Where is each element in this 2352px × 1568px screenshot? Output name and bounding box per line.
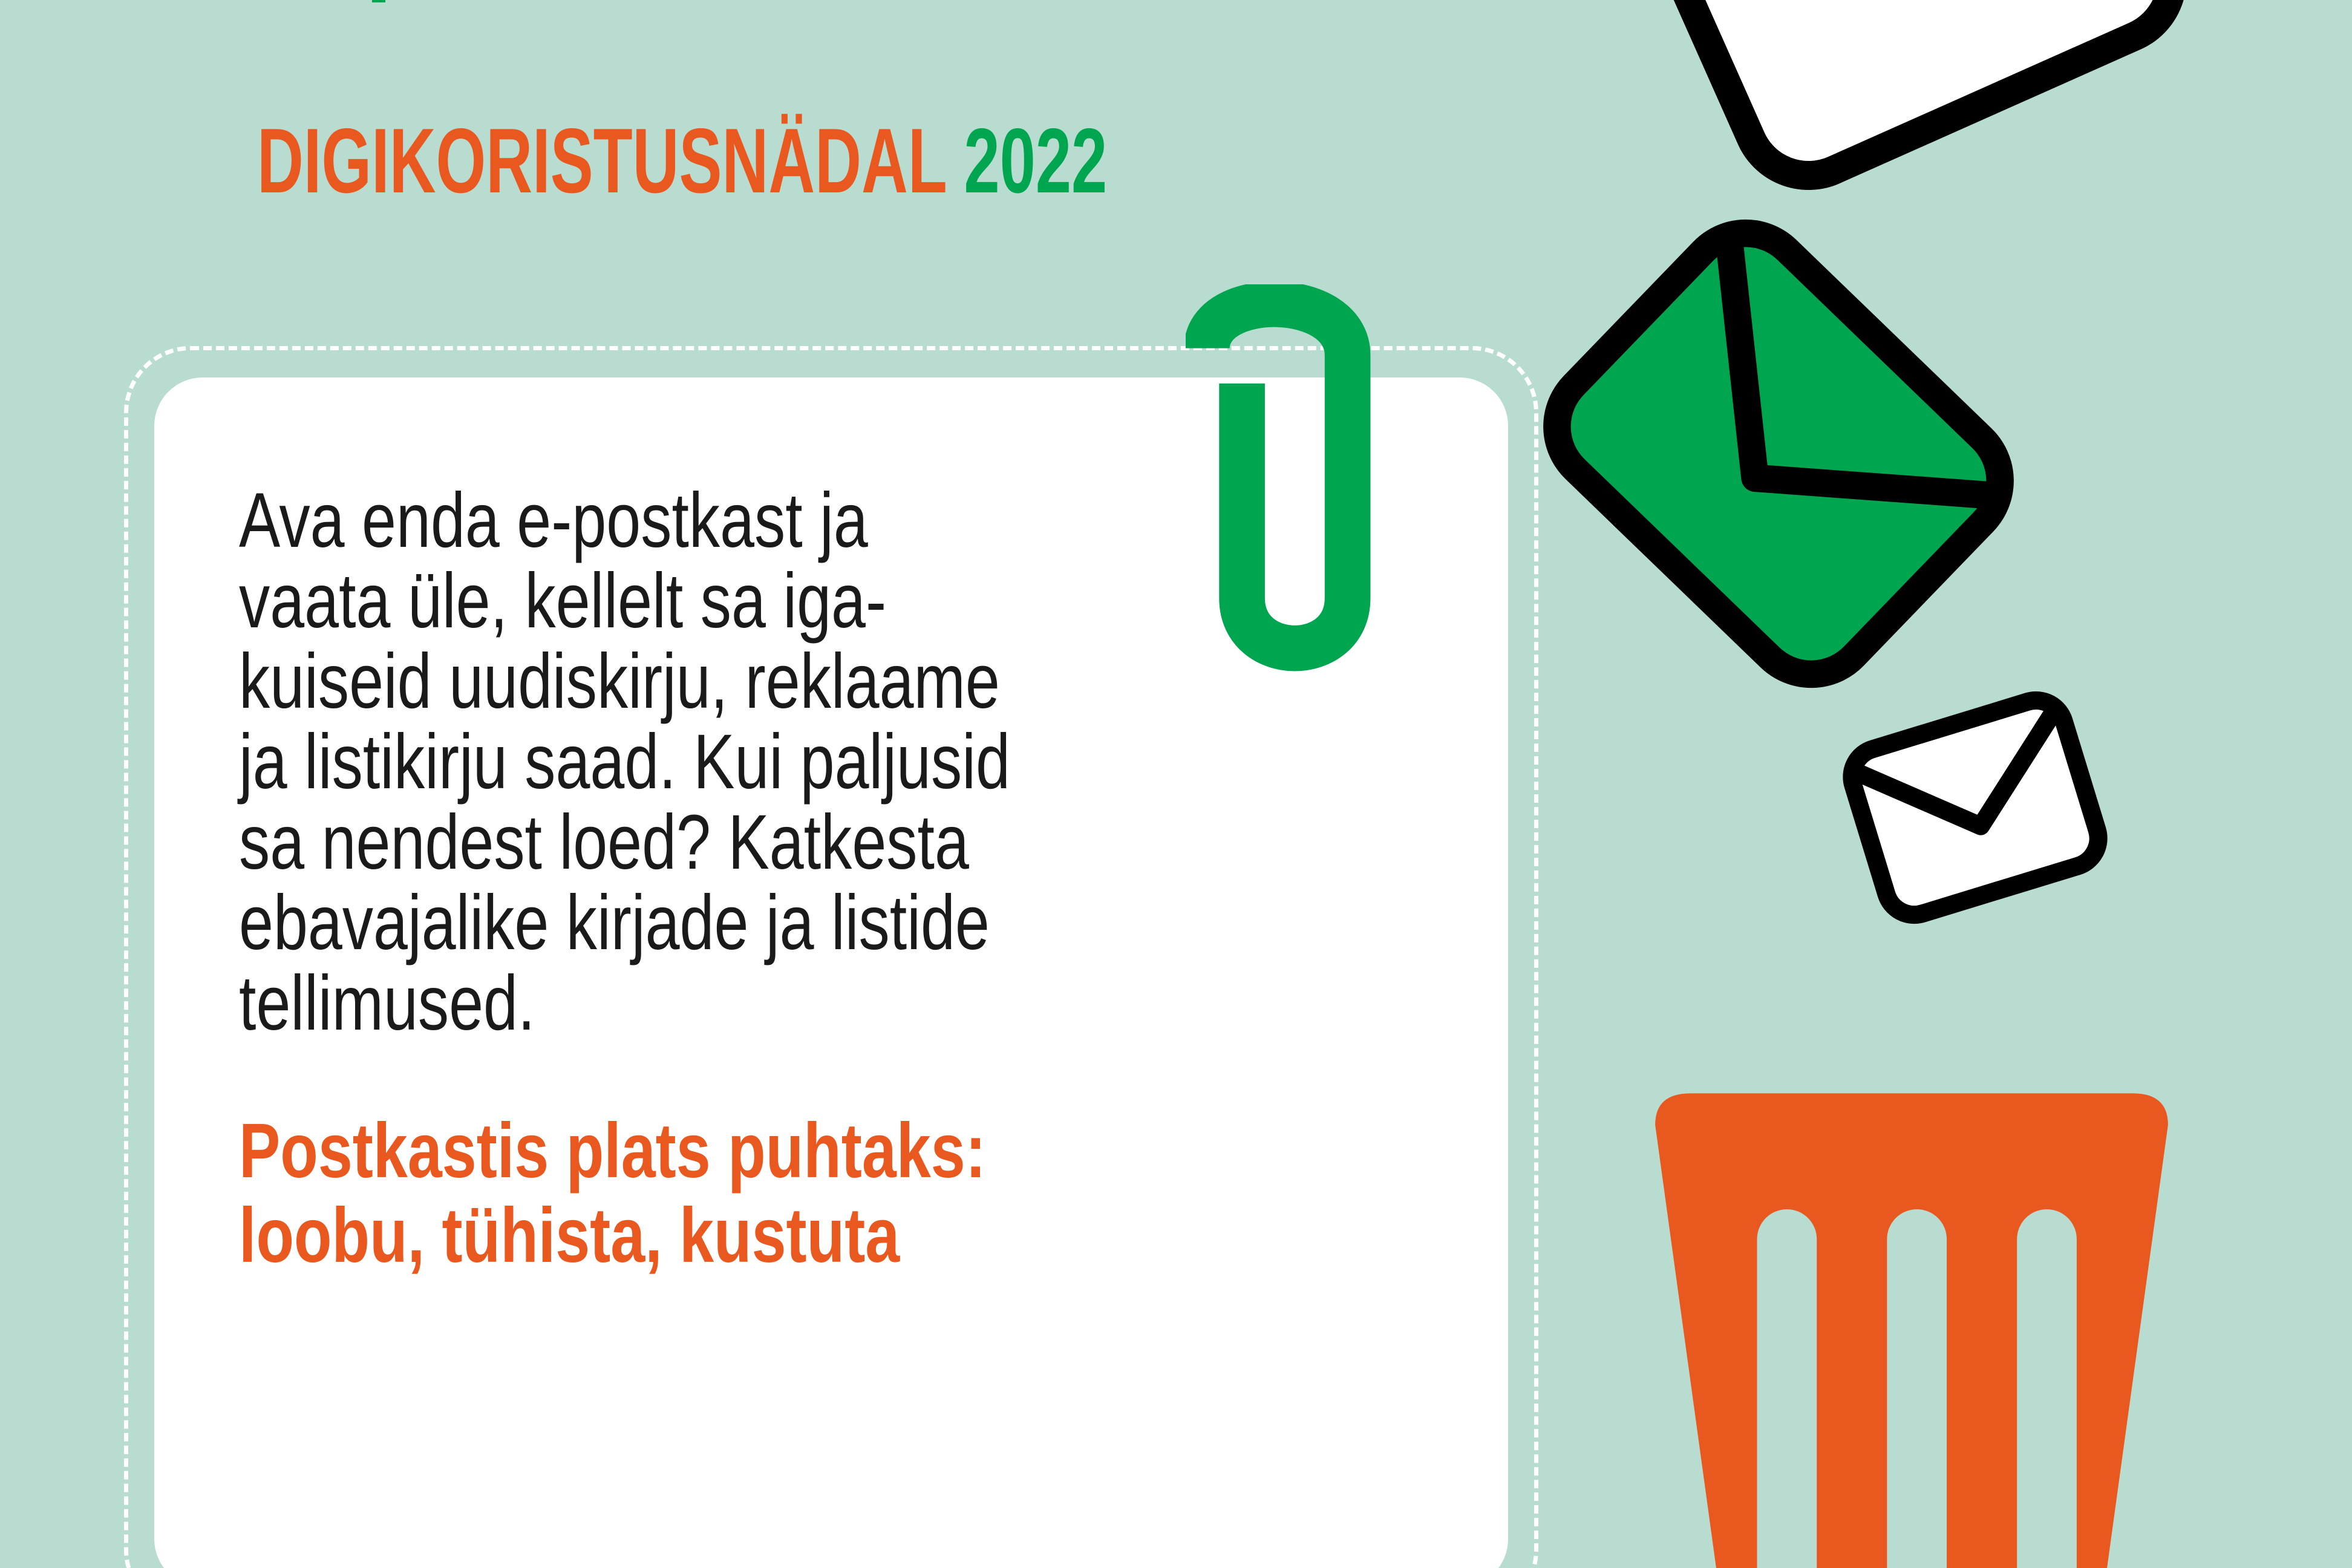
body-line: ebavajalike kirjade ja listide [239,883,1212,963]
paperclip-icon [1186,284,1379,708]
cta-line: Postkastis plats puhtaks: [239,1109,1212,1194]
poster-canvas: DIGIKORISTUSNÄDAL 2022 Ava enda e-postka… [0,0,2352,1568]
title-main-text: DIGIKORISTUSNÄDAL [257,109,946,212]
body-line: kuiseid uudiskirju, reklaame [239,641,1212,722]
body-line: ja listikirju saad. Kui paljusid [239,722,1212,802]
call-to-action: Postkastis plats puhtaks: loobu, tühista… [239,1109,1455,1278]
title-year-text: 2022 [946,109,1107,212]
top-fleck-decoration [372,0,385,2]
envelope-white-small-icon [1831,680,2119,936]
trash-can-icon [1627,1083,2196,1568]
body-line: Ava enda e-postkast ja [239,480,1212,561]
body-line: tellimused. [239,963,1212,1044]
envelope-white-top-icon [1612,0,2211,215]
envelope-green-icon [1509,185,2049,722]
page-title: DIGIKORISTUSNÄDAL 2022 [257,115,1107,207]
cta-line: loobu, tühista, kustuta [239,1194,1212,1278]
body-line: sa nendest loed? Katkesta [239,802,1212,883]
body-line: vaata üle, kellelt sa iga- [239,561,1212,641]
